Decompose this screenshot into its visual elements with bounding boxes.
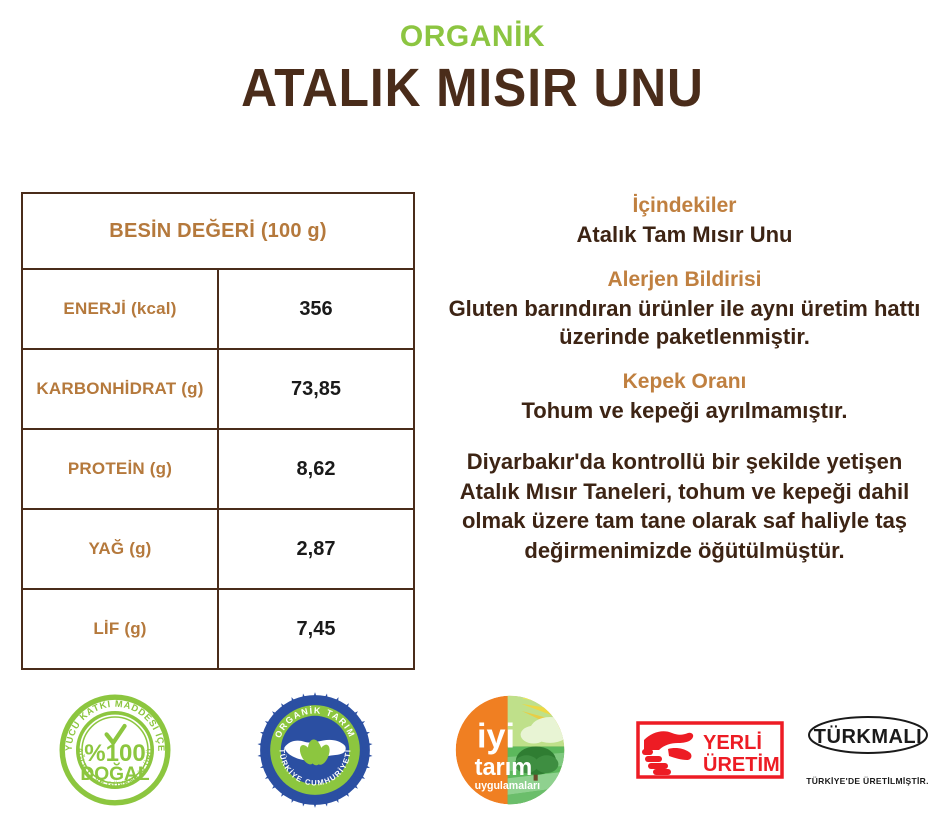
info-block-bran-ratio: Kepek Oranı Tohum ve kepeği ayrılmamıştı… (432, 369, 937, 426)
nutrient-label: YAĞ (g) (22, 509, 218, 589)
nutrient-value: 2,87 (218, 509, 414, 589)
info-block-allergen: Alerjen Bildirisi Gluten barındıran ürün… (432, 267, 937, 352)
allergen-text: Gluten barındıran ürünler ile aynı üreti… (432, 295, 937, 352)
table-header-row: BESİN DEĞERİ (100 g) (22, 193, 414, 269)
nutrient-value: 73,85 (218, 349, 414, 429)
eyebrow-organik: ORGANİK (0, 22, 945, 52)
nutrient-label: PROTEİN (g) (22, 429, 218, 509)
ingredients-heading: İçindekiler (432, 193, 937, 219)
table-row: YAĞ (g) 2,87 (22, 509, 414, 589)
ingredients-text: Atalık Tam Mısır Unu (432, 221, 937, 250)
origin-description: Diyarbakır'da kontrollü bir şekilde yeti… (432, 447, 937, 565)
nutrient-value: 8,62 (218, 429, 414, 509)
nutrition-table-heading: BESİN DEĞERİ (100 g) (22, 193, 414, 269)
badge-natural-100: KORUYUCU KATKI MADDESİ İÇERMEZ SAĞLIKLI … (45, 690, 185, 810)
nutrient-label: LİF (g) (22, 589, 218, 669)
svg-text:iyi: iyi (477, 718, 515, 756)
bran-ratio-heading: Kepek Oranı (432, 369, 937, 395)
svg-text:YERLİ: YERLİ (703, 731, 762, 754)
badge-domestic-production: YERLİ ÜRETİM YERLİ ÜRETİM (630, 690, 790, 810)
page-title: ATALIK MISIR UNU (38, 60, 907, 117)
turkish-goods-oval-icon: TÜRKMALI (793, 714, 943, 772)
table-row: KARBONHİDRAT (g) 73,85 (22, 349, 414, 429)
badge-turkish-goods: TÜRKMALI TÜRKİYE'DE ÜRETİLMİŞTİR. TÜRKMA… (790, 690, 945, 810)
svg-text:uygulamaları: uygulamaları (475, 780, 541, 792)
badge-good-agricultural-practices: iyi tarım uygulamaları iyi tarım uygulam… (440, 690, 580, 810)
certification-badge-strip: KORUYUCU KATKI MADDESİ İÇERMEZ SAĞLIKLI … (0, 690, 945, 815)
page-header: ORGANİK ATALIK MISIR UNU (0, 0, 945, 117)
nutrient-label: ENERJİ (kcal) (22, 269, 218, 349)
bran-ratio-text: Tohum ve kepeği ayrılmamıştır. (432, 397, 937, 426)
domestic-production-handshake-icon: YERLİ ÜRETİM (635, 718, 785, 782)
svg-text:ÜRETİM: ÜRETİM (703, 753, 780, 776)
svg-text:%100: %100 (84, 740, 145, 767)
info-block-ingredients: İçindekiler Atalık Tam Mısır Unu (432, 193, 937, 250)
svg-text:DOĞAL: DOĞAL (80, 763, 150, 785)
svg-text:TÜRKMALI: TÜRKMALI (813, 725, 921, 748)
table-row: ENERJİ (kcal) 356 (22, 269, 414, 349)
product-info-column: İçindekiler Atalık Tam Mısır Unu Alerjen… (432, 193, 937, 565)
good-agricultural-practices-icon: iyi tarım uygulamaları (451, 691, 569, 809)
table-row: LİF (g) 7,45 (22, 589, 414, 669)
svg-text:tarım: tarım (475, 754, 533, 780)
badge-organic-agriculture: ORGANİK TARIM ★TÜRKİYE CUMHURİYETİ★ ORGA… (250, 690, 380, 810)
nutrition-table: BESİN DEĞERİ (100 g) ENERJİ (kcal) 356 K… (21, 192, 415, 670)
badge-turkmali-caption: TÜRKİYE'DE ÜRETİLMİŞTİR. (806, 776, 929, 786)
natural-100-percent-seal-icon: KORUYUCU KATKI MADDESİ İÇERMEZ SAĞLIKLI … (55, 690, 175, 810)
nutrient-label: KARBONHİDRAT (g) (22, 349, 218, 429)
nutrient-value: 7,45 (218, 589, 414, 669)
nutrient-value: 356 (218, 269, 414, 349)
organic-agriculture-turkey-seal-icon: ORGANİK TARIM ★TÜRKİYE CUMHURİYETİ★ (256, 691, 374, 809)
table-row: PROTEİN (g) 8,62 (22, 429, 414, 509)
allergen-heading: Alerjen Bildirisi (432, 267, 937, 293)
